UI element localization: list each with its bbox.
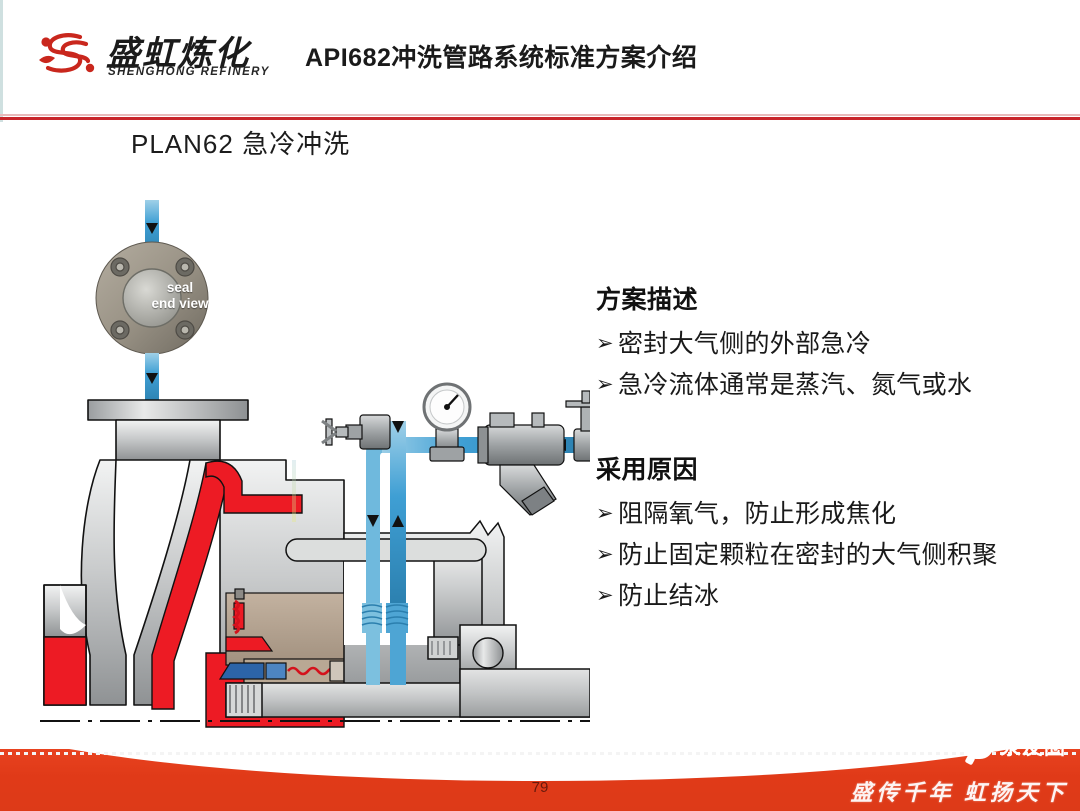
bullet-item: ➢ 防止结冰 [596,584,1074,609]
section-heading-description: 方案描述 [596,280,1074,316]
bullet-arrow-icon: ➢ [596,332,618,356]
bullet-arrow-icon: ➢ [596,584,618,608]
gland-bar [286,539,486,561]
bullet-arrow-icon: ➢ [596,373,618,397]
bullet-text: 阻隔氧气，防止形成焦化 [618,502,896,527]
page-title: API682冲洗管路系统标准方案介绍 [305,38,697,74]
needle-valve-left [322,415,390,449]
bullet-arrow-icon: ➢ [596,543,618,567]
bullet-text: 密封大气侧的外部急冷 [618,332,871,357]
pressure-gauge [424,384,470,461]
wechat-icon [963,749,993,759]
bullet-arrow-icon: ➢ [596,502,618,526]
pump-seal-cross-section-svg [30,185,590,730]
header-divider [0,117,1080,120]
logo-english-name: SHENGHONG REFINERY [108,66,270,78]
content-text-column: 方案描述 ➢ 密封大气侧的外部急冷 ➢ 急冷流体通常是蒸汽、氮气或水 采用原因 … [596,280,1074,609]
footer-slogan: 盛传千年 虹扬天下 [850,775,1068,807]
header-left-edge [0,0,3,122]
header-divider-soft [0,114,1080,116]
watermark-text: 泵友圈 [1000,749,1066,761]
company-logo: 盛虹炼化 SHENGHONG REFINERY [34,28,280,84]
plan62-diagram: seal end view [30,185,590,730]
wechat-watermark: 泵友圈 [963,749,1066,761]
bullet-item: ➢ 密封大气侧的外部急冷 [596,332,1074,357]
footer-dotted-line [0,752,1080,755]
slide-footer: 79 泵友圈 盛传千年 虹扬天下 [0,749,1080,811]
bullet-text: 急冷流体通常是蒸汽、氮气或水 [618,373,972,398]
slide-header: 盛虹炼化 SHENGHONG REFINERY API682冲洗管路系统标准方案… [0,0,1080,96]
slide-canvas: 盛虹炼化 SHENGHONG REFINERY API682冲洗管路系统标准方案… [0,0,1080,811]
bullet-text: 防止固定颗粒在密封的大气侧积聚 [618,543,998,568]
bullet-item: ➢ 防止固定颗粒在密封的大气侧积聚 [596,543,1074,568]
shenghong-logo-icon [34,30,100,78]
bullet-item: ➢ 急冷流体通常是蒸汽、氮气或水 [596,373,1074,398]
decorative-artifact [292,460,296,522]
slide-subtitle: PLAN62 急冷冲洗 [131,124,350,161]
section-heading-reason: 采用原因 [596,450,1074,486]
bullet-item: ➢ 阻隔氧气，防止形成焦化 [596,502,1074,527]
instrument-group [322,384,590,515]
y-strainer [478,413,564,515]
seal-end-view-group [96,200,208,405]
bullet-text: 防止结冰 [618,584,719,609]
